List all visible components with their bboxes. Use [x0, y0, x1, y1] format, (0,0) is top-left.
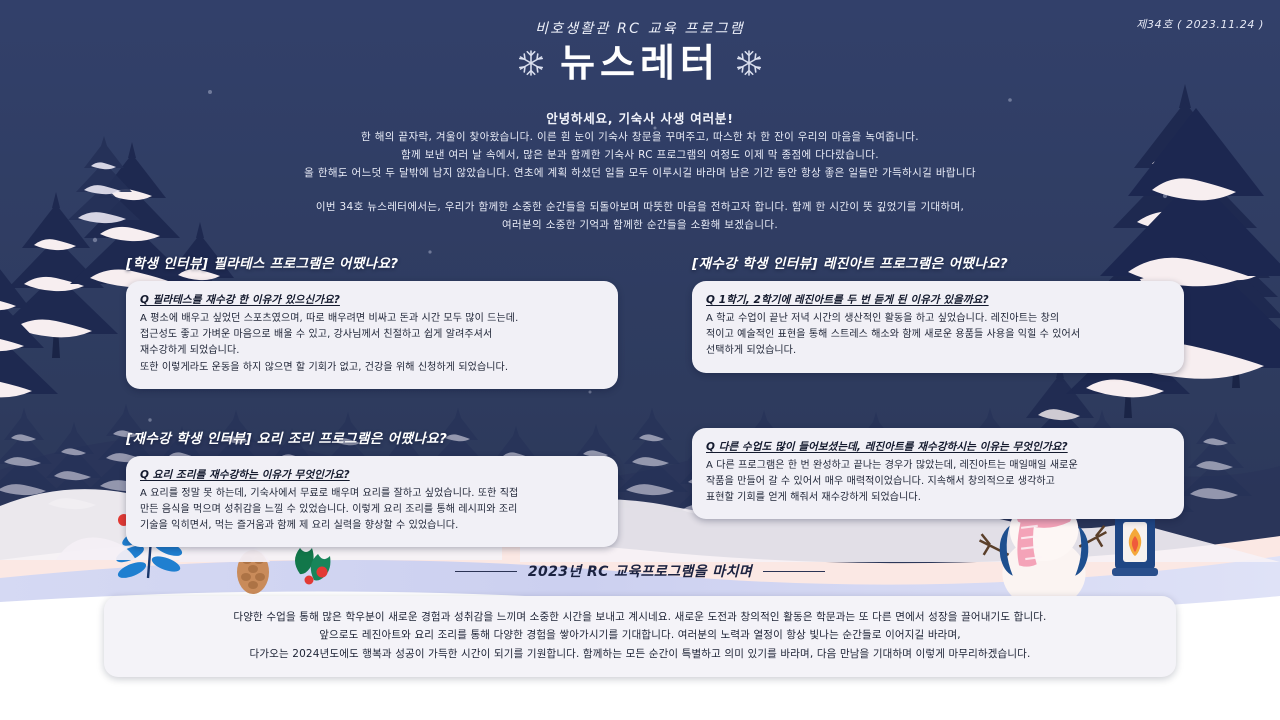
closing-line: 다양한 수업을 통해 많은 학우분이 새로운 경험과 성취감을 느끼며 소중한 …	[124, 608, 1156, 626]
qa-answer: A 다른 프로그램은 한 번 완성하고 끝나는 경우가 많았는데, 레진아트는 …	[706, 458, 1170, 507]
intro-line: 함께 보낸 여러 날 속에서, 많은 분과 함께한 기숙사 RC 프로그램의 여…	[0, 146, 1280, 164]
qa-answer-line: 적이고 예술적인 표현을 통해 스트레스 해소와 함께 새로운 용품들 사용을 …	[706, 327, 1170, 343]
intro-paragraph-2: 이번 34호 뉴스레터에서는, 우리가 함께한 소중한 순간들을 되돌아보며 따…	[0, 198, 1280, 234]
snowflake-icon	[516, 48, 546, 78]
right-interview-column: [재수강 학생 인터뷰] 레진아트 프로그램은 어땠나요? Q 1학기, 2학기…	[692, 252, 1184, 519]
qa-answer-line: 표현할 기회를 얻게 해줘서 재수강하게 되었습니다.	[706, 490, 1170, 506]
qa-card-pilates: Q 필라테스를 재수강 한 이유가 있으신가요? A 평소에 배우고 싶었던 스…	[126, 281, 618, 389]
intro-line: 한 해의 끝자락, 겨울이 찾아왔습니다. 이른 흰 눈이 기숙사 창문을 꾸며…	[0, 128, 1280, 146]
divider-rule-left	[455, 571, 517, 572]
newsletter-page: 제34호 ( 2023.11.24 ) 비호생활관 RC 교육 프로그램 뉴스레…	[0, 0, 1280, 720]
qa-card-resin-art-1: Q 1학기, 2학기에 레진아트를 두 번 듣게 된 이유가 있을까요? A 학…	[692, 281, 1184, 373]
closing-divider: 2023년 RC 교육프로그램을 마치며	[0, 561, 1280, 581]
page-title: 뉴스레터	[560, 44, 720, 82]
qa-question: Q 1학기, 2학기에 레진아트를 두 번 듣게 된 이유가 있을까요?	[706, 292, 1170, 307]
closing-title: 2023년 RC 교육프로그램을 마치며	[528, 561, 752, 581]
qa-answer-line: 재수강하게 되었습니다.	[140, 343, 604, 359]
qa-answer-line: A 요리를 정말 못 하는데, 기숙사에서 무료로 배우며 요리를 잘하고 싶었…	[140, 486, 604, 502]
closing-line: 다가오는 2024년도에도 행복과 성공이 가득한 시간이 되기를 기원합니다.…	[124, 645, 1156, 663]
intro-line: 올 한해도 어느덧 두 달밖에 남지 않았습니다. 연초에 계획 하셨던 일들 …	[0, 164, 1280, 182]
closing-line: 앞으로도 레진아트와 요리 조리를 통해 다양한 경험을 쌓아가시기를 기대합니…	[124, 626, 1156, 644]
closing-card: 다양한 수업을 통해 많은 학우분이 새로운 경험과 성취감을 느끼며 소중한 …	[104, 596, 1176, 677]
intro-line: 이번 34호 뉴스레터에서는, 우리가 함께한 소중한 순간들을 되돌아보며 따…	[0, 198, 1280, 216]
masthead-kicker: 비호생활관 RC 교육 프로그램	[0, 18, 1280, 38]
intro-line: 여러분의 소중한 기억과 함께한 순간들을 소환해 보겠습니다.	[0, 216, 1280, 234]
section-heading-cooking: [재수강 학생 인터뷰] 요리 조리 프로그램은 어땠나요?	[126, 427, 618, 447]
column-spacer	[692, 373, 1184, 428]
qa-answer-line: A 다른 프로그램은 한 번 완성하고 끝나는 경우가 많았는데, 레진아트는 …	[706, 458, 1170, 474]
divider-rule-right	[763, 571, 825, 572]
column-spacer	[126, 389, 618, 427]
qa-answer-line: 접근성도 좋고 가벼운 마음으로 배울 수 있고, 강사님께서 친절하고 쉽게 …	[140, 327, 604, 343]
section-heading-resin-art: [재수강 학생 인터뷰] 레진아트 프로그램은 어땠나요?	[692, 252, 1184, 272]
qa-answer-line: 기술을 익히면서, 먹는 즐거움과 함께 제 요리 실력을 향상할 수 있었습니…	[140, 518, 604, 534]
masthead: 비호생활관 RC 교육 프로그램 뉴스레터	[0, 18, 1280, 82]
qa-question: Q 다른 수업도 많이 들어보셨는데, 레진아트를 재수강하시는 이유는 무엇인…	[706, 439, 1170, 454]
greeting-line: 안녕하세요, 기숙사 사생 여러분!	[0, 108, 1280, 127]
closing-text: 다양한 수업을 통해 많은 학우분이 새로운 경험과 성취감을 느끼며 소중한 …	[124, 608, 1156, 663]
qa-answer-line: 또한 이렇게라도 운동을 하지 않으면 할 기회가 없고, 건강을 위해 신청하…	[140, 360, 604, 376]
qa-answer-line: A 평소에 배우고 싶었던 스포츠였으며, 따로 배우려면 비싸고 돈과 시간 …	[140, 311, 604, 327]
snowflake-icon	[734, 48, 764, 78]
qa-answer: A 평소에 배우고 싶었던 스포츠였으며, 따로 배우려면 비싸고 돈과 시간 …	[140, 311, 604, 376]
intro-paragraph-1: 한 해의 끝자락, 겨울이 찾아왔습니다. 이른 흰 눈이 기숙사 창문을 꾸며…	[0, 128, 1280, 182]
qa-answer: A 학교 수업이 끝난 저녁 시간의 생산적인 활동을 하고 싶었습니다. 레진…	[706, 311, 1170, 360]
qa-question: Q 필라테스를 재수강 한 이유가 있으신가요?	[140, 292, 604, 307]
qa-answer-line: 만든 음식을 먹으며 성취감을 느낄 수 있었습니다. 이렇게 요리 조리를 통…	[140, 502, 604, 518]
qa-answer-line: A 학교 수업이 끝난 저녁 시간의 생산적인 활동을 하고 싶었습니다. 레진…	[706, 311, 1170, 327]
qa-answer-line: 선택하게 되었습니다.	[706, 343, 1170, 359]
section-heading-pilates: [학생 인터뷰] 필라테스 프로그램은 어땠나요?	[126, 252, 618, 272]
qa-card-cooking: Q 요리 조리를 재수강하는 이유가 무엇인가요? A 요리를 정말 못 하는데…	[126, 456, 618, 548]
qa-question: Q 요리 조리를 재수강하는 이유가 무엇인가요?	[140, 467, 604, 482]
qa-answer-line: 작품을 만들어 갈 수 있어서 매우 매력적이었습니다. 지속해서 창의적으로 …	[706, 474, 1170, 490]
qa-card-resin-art-2: Q 다른 수업도 많이 들어보셨는데, 레진아트를 재수강하시는 이유는 무엇인…	[692, 428, 1184, 520]
left-interview-column: [학생 인터뷰] 필라테스 프로그램은 어땠나요? Q 필라테스를 재수강 한 …	[126, 252, 618, 547]
qa-answer: A 요리를 정말 못 하는데, 기숙사에서 무료로 배우며 요리를 잘하고 싶었…	[140, 486, 604, 535]
